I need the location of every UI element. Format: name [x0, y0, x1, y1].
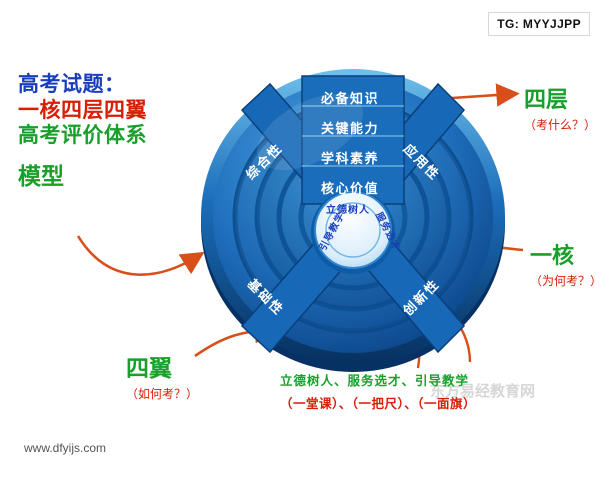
core-item-literacy: 学科素养 [285, 148, 415, 167]
diagram-canvas: 东方易经教育网 TG: MYYJJPP www.dfyijs.com 高考试题：… [0, 0, 600, 480]
disc-svg [198, 62, 508, 372]
core-item-ability: 关键能力 [285, 118, 415, 137]
core-item-knowledge: 必备知识 [285, 88, 415, 107]
core-item-value: 核心价值 [285, 178, 415, 197]
arrow-model [78, 236, 198, 275]
evaluation-disc [198, 62, 508, 372]
